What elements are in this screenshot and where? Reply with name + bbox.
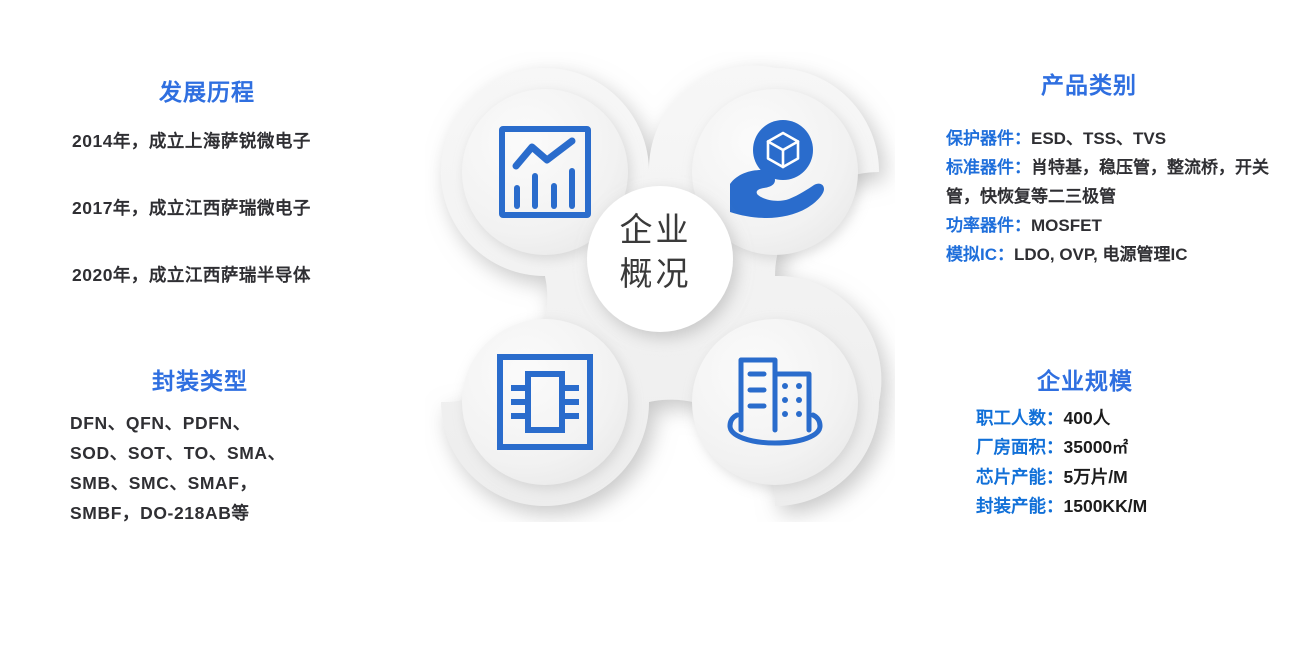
scale-item-value: 400人 <box>1064 408 1111 428</box>
center-title-line2: 概况 <box>617 253 692 297</box>
product-item-label: 保护器件： <box>946 129 1031 148</box>
package-item: SOD、SOT、TO、SMA、 <box>70 438 410 468</box>
scale-item-value: 5万片/M <box>1064 467 1128 487</box>
scale-item-label: 职工人数： <box>976 408 1064 428</box>
scale-item: 厂房面积：35000㎡ <box>976 433 1276 463</box>
product-item-label: 模拟IC： <box>946 245 1014 264</box>
scale-item: 职工人数：400人 <box>976 404 1276 433</box>
section-title-history: 发展历程 <box>159 73 255 107</box>
product-item: 功率器件：MOSFET <box>946 211 1294 240</box>
product-item-label: 标准器件： <box>946 158 1031 177</box>
package-item: SMB、SMC、SMAF， <box>70 468 410 498</box>
history-list: 2014年，成立上海萨锐微电子 2017年，成立江西萨瑞微电子 2020年，成立… <box>72 128 402 287</box>
product-item-value: LDO, OVP, 电源管理IC <box>1014 245 1188 264</box>
product-item-label: 功率器件： <box>946 216 1031 235</box>
scale-item-label: 厂房面积： <box>976 437 1064 457</box>
history-item: 2020年，成立江西萨瑞半导体 <box>72 262 402 287</box>
product-item: 模拟IC：LDO, OVP, 电源管理IC <box>946 240 1294 269</box>
section-title-product: 产品类别 <box>1041 66 1137 100</box>
history-item: 2014年，成立上海萨锐微电子 <box>72 128 402 153</box>
infographic-canvas: 企业 概况 发展历程 2014年，成立上海萨锐微电子 2017年，成立江西萨瑞微… <box>0 0 1303 649</box>
product-item: 标准器件：肖特基，稳压管，整流桥，开关管，快恢复等二三极管 <box>946 153 1294 211</box>
scale-item-label: 芯片产能： <box>976 467 1064 487</box>
scale-item-unit: ㎡ <box>1112 440 1128 457</box>
product-item-value: ESD、TSS、TVS <box>1031 129 1166 148</box>
scale-item-value: 35000 <box>1064 437 1113 457</box>
scale-item: 芯片产能：5万片/M <box>976 463 1276 492</box>
history-item: 2017年，成立江西萨瑞微电子 <box>72 195 402 220</box>
package-item: DFN、QFN、PDFN、 <box>70 408 410 438</box>
scale-list: 职工人数：400人 厂房面积：35000㎡ 芯片产能：5万片/M 封装产能：15… <box>976 404 1276 521</box>
package-item: SMBF，DO-218AB等 <box>70 498 410 528</box>
package-list: DFN、QFN、PDFN、 SOD、SOT、TO、SMA、 SMB、SMC、SM… <box>70 408 410 528</box>
section-title-scale: 企业规模 <box>1037 362 1133 396</box>
central-blob-graphic: 企业 概况 <box>425 52 895 522</box>
product-item-value: MOSFET <box>1031 216 1102 235</box>
lobe-bottom-left[interactable] <box>462 319 628 485</box>
product-item: 保护器件：ESD、TSS、TVS <box>946 124 1294 153</box>
scale-item: 封装产能：1500KK/M <box>976 492 1276 521</box>
center-title: 企业 概况 <box>587 186 721 320</box>
product-list: 保护器件：ESD、TSS、TVS 标准器件：肖特基，稳压管，整流桥，开关管，快恢… <box>946 124 1294 269</box>
scale-item-label: 封装产能： <box>976 496 1064 516</box>
center-title-line1: 企业 <box>617 209 692 253</box>
scale-item-value: 1500KK/M <box>1064 496 1148 516</box>
section-title-package: 封装类型 <box>152 362 248 396</box>
